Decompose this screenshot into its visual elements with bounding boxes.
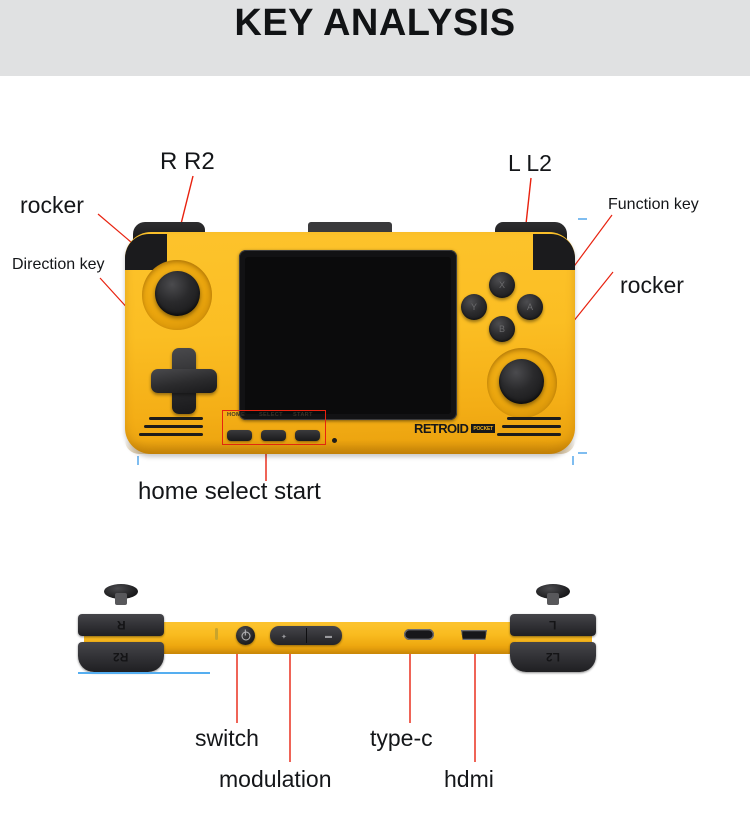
trigger-l2[interactable]: L2	[510, 642, 596, 672]
grip-right: L L2	[510, 598, 596, 678]
callout-switch: switch	[195, 725, 259, 752]
callout-shoulder-left: L L2	[508, 150, 552, 177]
analog-stick-shaft	[547, 593, 559, 605]
crop-tick-top-right	[578, 218, 587, 220]
face-button-y[interactable]: Y	[461, 294, 487, 320]
select-button[interactable]	[261, 430, 286, 441]
face-button-b[interactable]: B	[489, 316, 515, 342]
page-title: KEY ANALYSIS	[0, 2, 750, 45]
callout-function-key: Function key	[608, 196, 699, 214]
lanyard-slot	[215, 628, 218, 640]
speaker-grille-right	[497, 416, 561, 438]
trigger-r-label: R	[117, 618, 126, 632]
screen-display[interactable]	[245, 257, 451, 414]
console-bottom-view: R R2 L L2 ✦ ▬	[78, 592, 638, 684]
volume-up-icon: ✦	[281, 633, 287, 641]
trigger-r[interactable]: R	[78, 614, 164, 636]
alignment-guide-line	[78, 672, 210, 674]
analog-stick-right-side[interactable]	[536, 584, 570, 606]
crop-tick-bottom-right	[572, 456, 574, 465]
volume-down-icon: ▬	[325, 633, 332, 640]
trigger-l2-label: L2	[546, 650, 560, 664]
home-button-label: HOME	[227, 412, 245, 418]
console-front-view: X Y A B HOME SELECT START RETROID POCKET	[125, 222, 575, 454]
system-buttons-highlight-box: HOME SELECT START	[222, 410, 326, 445]
brand-badge: POCKET	[471, 424, 495, 433]
callout-rocker-left: rocker	[20, 192, 84, 219]
analog-stick-shaft	[115, 593, 127, 605]
trigger-l-label: L	[549, 618, 556, 632]
brand-name: RETROID	[414, 421, 468, 436]
face-button-x[interactable]: X	[489, 272, 515, 298]
device-body: X Y A B HOME SELECT START RETROID POCKET	[125, 232, 575, 454]
home-button[interactable]	[227, 430, 252, 441]
callout-rocker-right: rocker	[620, 272, 684, 299]
callout-hdmi: hdmi	[444, 766, 494, 793]
dpad-horizontal	[151, 369, 217, 393]
callout-direction-key: Direction key	[12, 256, 104, 274]
corner-bumper-right	[533, 234, 575, 270]
power-button[interactable]	[236, 626, 255, 645]
screen-bezel	[239, 250, 457, 420]
trigger-r2[interactable]: R2	[78, 642, 164, 672]
analog-stick-left[interactable]	[155, 271, 200, 316]
analog-stick-right[interactable]	[499, 359, 544, 404]
direction-pad[interactable]	[151, 348, 217, 414]
hdmi-port[interactable]	[461, 630, 487, 640]
grip-left: R R2	[78, 598, 164, 678]
brand-logo: RETROID POCKET	[414, 421, 495, 436]
select-button-label: SELECT	[259, 412, 283, 418]
usb-type-c-port[interactable]	[404, 629, 434, 640]
crop-tick-bottom-left	[137, 456, 139, 465]
status-led	[332, 438, 337, 443]
start-button-label: START	[293, 412, 313, 418]
start-button[interactable]	[295, 430, 320, 441]
trigger-r2-label: R2	[113, 650, 128, 664]
trigger-l[interactable]: L	[510, 614, 596, 636]
callout-type-c: type-c	[370, 725, 433, 752]
face-button-a[interactable]: A	[517, 294, 543, 320]
volume-rocker[interactable]: ✦ ▬	[270, 626, 342, 645]
crop-tick-mid-right	[578, 452, 587, 454]
power-icon	[241, 631, 250, 640]
callout-modulation: modulation	[219, 766, 332, 793]
callout-system-buttons: home select start	[138, 478, 321, 506]
callout-shoulder-right: R R2	[160, 148, 215, 176]
speaker-grille-left	[139, 416, 203, 438]
analog-stick-left-side[interactable]	[104, 584, 138, 606]
